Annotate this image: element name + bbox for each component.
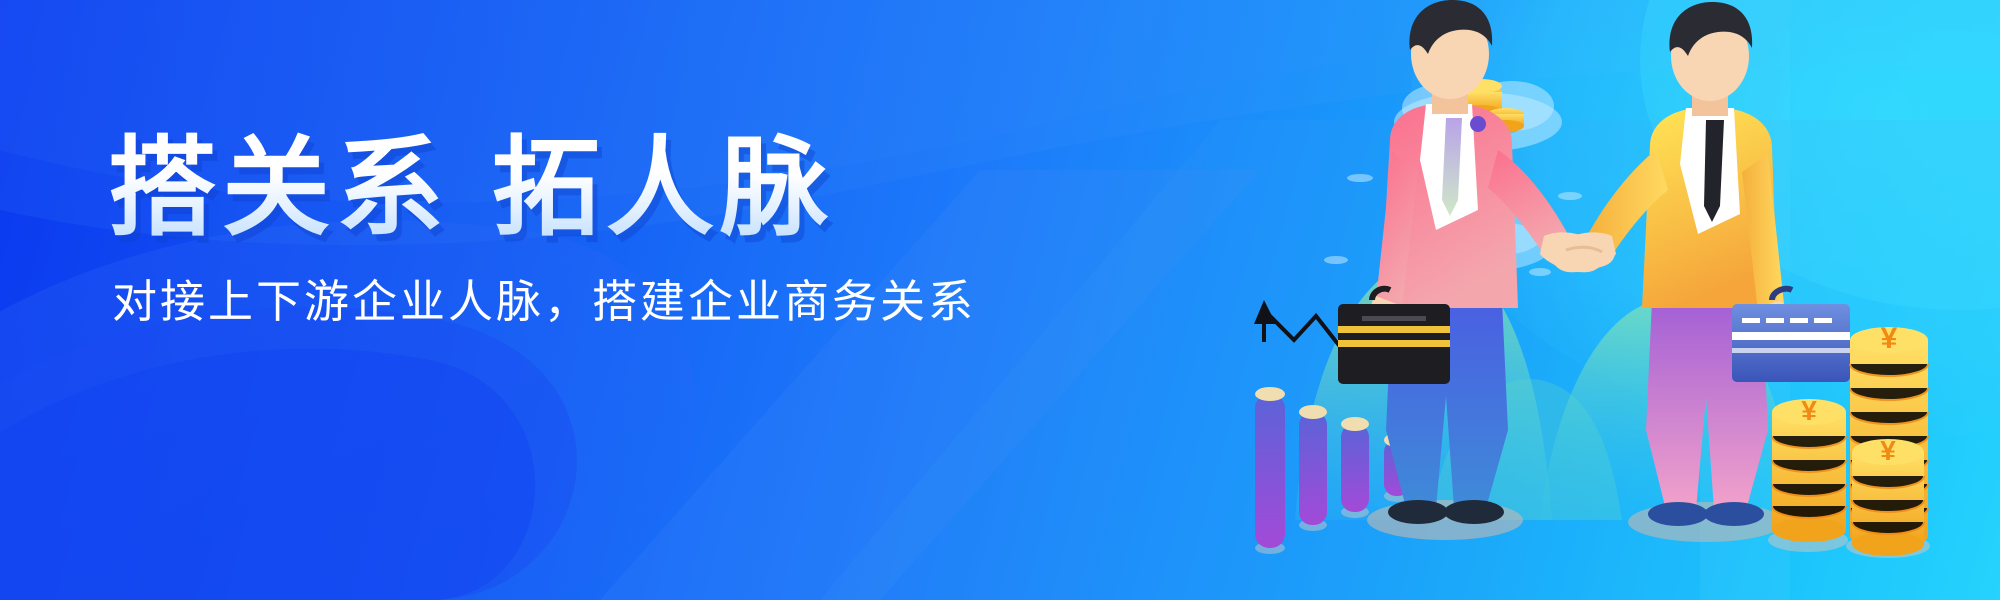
svg-text:¥: ¥	[1801, 395, 1817, 426]
banner-text-block: 搭关系拓人脉 对接上下游企业人脉，搭建企业商务关系	[108, 128, 976, 329]
handshake-scene-svg: ¥ ¥	[1240, 0, 2000, 600]
headline-part-1: 搭关系	[108, 127, 450, 248]
svg-text:¥: ¥	[1881, 322, 1898, 355]
ground-shadow-right	[1628, 502, 1784, 542]
shoe-left-a	[1388, 500, 1448, 524]
page-subtitle: 对接上下游企业人脉，搭建企业商务关系	[112, 275, 976, 329]
coin-stack-short: ¥	[1852, 435, 1924, 556]
hero-illustration: ¥ ¥	[1240, 0, 2000, 600]
shoe-right-a	[1648, 502, 1708, 526]
promo-banner: 搭关系拓人脉 对接上下游企业人脉，搭建企业商务关系	[0, 0, 2000, 600]
shoe-left-b	[1444, 500, 1504, 524]
svg-text:¥: ¥	[1880, 435, 1896, 466]
page-title: 搭关系拓人脉	[108, 128, 976, 249]
wave-bottom-left-inner	[0, 307, 577, 600]
wave-bottom-left-rim	[0, 349, 535, 600]
shoe-right-b	[1704, 502, 1764, 526]
coin-stack-medium: ¥	[1772, 395, 1846, 542]
headline-part-2: 拓人脉	[492, 127, 834, 248]
left-lapel-pin	[1470, 116, 1486, 132]
